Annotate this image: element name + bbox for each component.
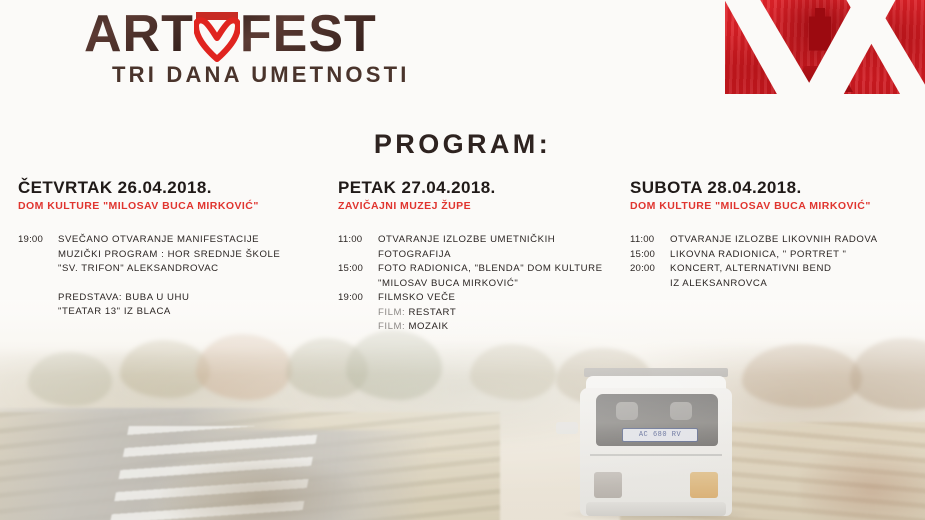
car-headrest — [616, 402, 638, 420]
event-time — [18, 291, 58, 320]
event-description: PREDSTAVA: BUBA U UHU"TEATAR 13" IZ BLAC… — [58, 291, 318, 320]
day-venue: DOM KULTURE "MILOSAV BUCA MIRKOVIĆ" — [630, 200, 920, 212]
event-time: 11:00 — [338, 233, 378, 262]
day-column-1: PETAK 27.04.2018.ZAVIČAJNI MUZEJ ŽUPE11:… — [338, 178, 628, 335]
photo-foreground-shrub — [800, 440, 925, 520]
car-headrest — [670, 402, 692, 420]
event-line: FOTO RADIONICA, "BLENDA" DOM KULTURE — [378, 262, 628, 277]
poster-canvas: AC 680 RV ART FEST TRI DANA UMETNOSTI — [0, 0, 925, 520]
event-line: FILM: MOZAIK — [378, 320, 628, 335]
event-line: "SV. TRIFON" ALEKSANDROVAC — [58, 262, 318, 277]
event-time: 20:00 — [630, 262, 670, 291]
event-row: 15:00LIKOVNA RADIONICA, " PORTRET " — [630, 248, 920, 263]
event-line-title: RESTART — [405, 307, 456, 318]
event-time: 19:00 — [338, 291, 378, 335]
artofest-logo: ART FEST — [84, 6, 377, 62]
program-heading: PROGRAM: — [0, 129, 925, 160]
event-line: OTVARANJE IZLOZBE LIKOVNIH RADOVA — [670, 233, 920, 248]
event-description: FOTO RADIONICA, "BLENDA" DOM KULTURE"MIL… — [378, 262, 628, 291]
photo-tree — [196, 334, 292, 400]
event-list: 19:00SVEČANO OTVARANJE MANIFESTACIJEMUZI… — [18, 233, 318, 320]
day-venue: ZAVIČAJNI MUZEJ ŽUPE — [338, 200, 628, 212]
day-column-2: SUBOTA 28.04.2018.DOM KULTURE "MILOSAV B… — [630, 178, 920, 291]
logo-word-art: ART — [84, 8, 194, 60]
event-line: LIKOVNA RADIONICA, " PORTRET " — [670, 248, 920, 263]
event-line: "MILOSAV BUCA MIRKOVIĆ" — [378, 277, 628, 292]
car-tail-light — [690, 472, 718, 498]
event-spacer — [18, 277, 318, 291]
event-row: 15:00FOTO RADIONICA, "BLENDA" DOM KULTUR… — [338, 262, 628, 291]
program-columns: ČETVRTAK 26.04.2018.DOM KULTURE "MILOSAV… — [0, 178, 925, 328]
event-description: LIKOVNA RADIONICA, " PORTRET " — [670, 248, 920, 263]
day-title: PETAK 27.04.2018. — [338, 178, 628, 198]
day-title: ČETVRTAK 26.04.2018. — [18, 178, 318, 198]
event-time: 15:00 — [338, 262, 378, 291]
photo-tree — [346, 330, 442, 400]
logo-word-fest: FEST — [240, 8, 377, 60]
event-description: OTVARANJE IZLOZBE LIKOVNIH RADOVA — [670, 233, 920, 248]
photo-tree — [28, 352, 112, 406]
event-description: FILMSKO VEČEFILM: RESTARTFILM: MOZAIK — [378, 291, 628, 335]
event-description: SVEČANO OTVARANJE MANIFESTACIJEMUZIČKI P… — [58, 233, 318, 277]
event-list: 11:00OTVARANJE IZLOZBE UMETNIČKIHFOTOGRA… — [338, 233, 628, 335]
event-line: PREDSTAVA: BUBA U UHU — [58, 291, 318, 306]
event-line: SVEČANO OTVARANJE MANIFESTACIJE — [58, 233, 318, 248]
photo-tree — [742, 344, 862, 408]
event-line: KONCERT, ALTERNATIVNI BEND — [670, 262, 920, 277]
event-time: 11:00 — [630, 233, 670, 248]
event-line: MUZIČKI PROGRAM : HOR SREDNJE ŠKOLE — [58, 248, 318, 263]
event-line: FOTOGRAFIJA — [378, 248, 628, 263]
day-title: SUBOTA 28.04.2018. — [630, 178, 920, 198]
event-line: FILM: RESTART — [378, 306, 628, 321]
heart-o-icon — [194, 8, 240, 60]
car-side-mirror — [556, 422, 578, 434]
day-venue: DOM KULTURE "MILOSAV BUCA MIRKOVIĆ" — [18, 200, 318, 212]
white-base-mask — [725, 94, 925, 118]
event-row: PREDSTAVA: BUBA U UHU"TEATAR 13" IZ BLAC… — [18, 291, 318, 320]
event-row: 11:00OTVARANJE IZLOZBE LIKOVNIH RADOVA — [630, 233, 920, 248]
photo-car: AC 680 RV — [572, 368, 740, 520]
event-row: 11:00OTVARANJE IZLOZBE UMETNIČKIHFOTOGRA… — [338, 233, 628, 262]
event-row: 20:00KONCERT, ALTERNATIVNI BENDIZ ALEKSA… — [630, 262, 920, 291]
event-line: "TEATAR 13" IZ BLACA — [58, 305, 318, 320]
red-triangle-photo-collage — [725, 0, 925, 118]
car-license-plate: AC 680 RV — [622, 428, 698, 442]
event-description: OTVARANJE IZLOZBE UMETNIČKIHFOTOGRAFIJA — [378, 233, 628, 262]
event-time: 19:00 — [18, 233, 58, 277]
event-description: KONCERT, ALTERNATIVNI BENDIZ ALEKSANROVC… — [670, 262, 920, 291]
photo-foreground-shrub — [150, 450, 370, 520]
photo-tree — [470, 344, 556, 400]
day-column-0: ČETVRTAK 26.04.2018.DOM KULTURE "MILOSAV… — [18, 178, 318, 320]
event-line: FILMSKO VEČE — [378, 291, 628, 306]
logo-tagline: TRI DANA UMETNOSTI — [112, 62, 410, 88]
car-tail-light — [594, 472, 622, 498]
event-list: 11:00OTVARANJE IZLOZBE LIKOVNIH RADOVA15… — [630, 233, 920, 291]
event-line-title: MOZAIK — [405, 321, 448, 332]
event-line: IZ ALEKSANROVCA — [670, 277, 920, 292]
car-bumper — [586, 502, 726, 516]
event-time: 15:00 — [630, 248, 670, 263]
car-trunk-seam — [590, 454, 722, 456]
event-row: 19:00FILMSKO VEČEFILM: RESTARTFILM: MOZA… — [338, 291, 628, 335]
event-line: OTVARANJE IZLOZBE UMETNIČKIH — [378, 233, 628, 248]
event-row: 19:00SVEČANO OTVARANJE MANIFESTACIJEMUZI… — [18, 233, 318, 277]
